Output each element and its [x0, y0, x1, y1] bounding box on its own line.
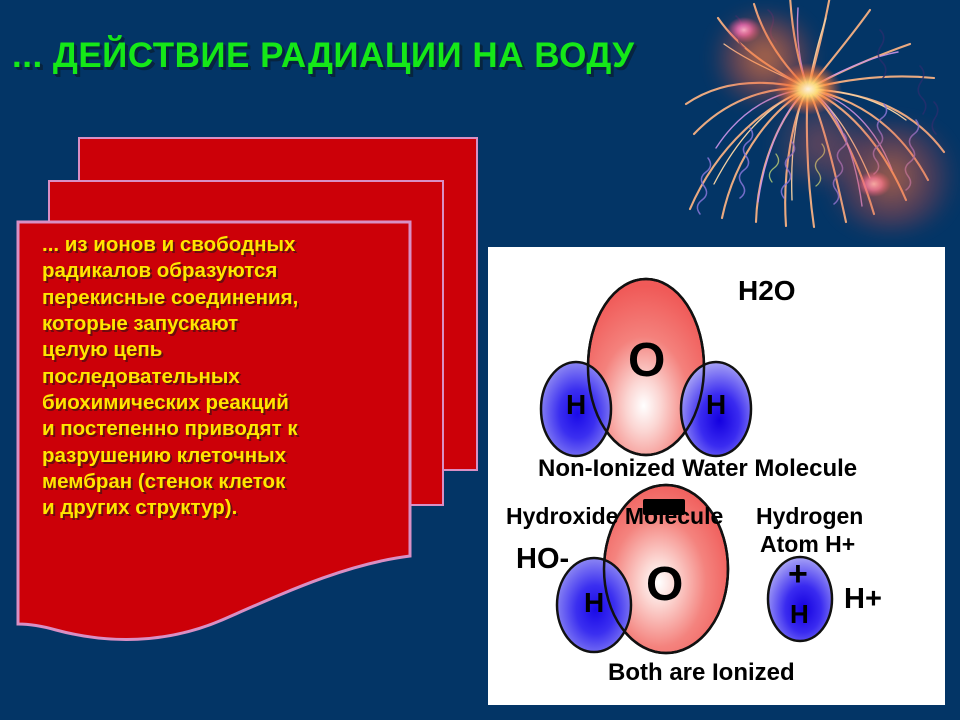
- hydroxide-hydrogen-symbol: H: [584, 587, 604, 619]
- diagram-footer-caption: Both are Ionized: [608, 659, 795, 687]
- slide-title: ... ДЕЙСТВИЕ РАДИАЦИИ НА ВОДУ: [12, 36, 635, 76]
- molecule-diagram-panel: O H H H2O Non-Ionized Water Molecule Hyd…: [488, 247, 945, 705]
- water-caption: Non-Ionized Water Molecule: [538, 455, 857, 483]
- hydroxide-heading: Hydroxide Molecule: [506, 503, 723, 530]
- hydroxide-formula-label: HO-: [516, 543, 569, 576]
- water-hydrogen-left-symbol: H: [566, 389, 586, 421]
- water-hydrogen-right-symbol: H: [706, 389, 726, 421]
- hydrogen-ion-short-label: H+: [844, 583, 882, 616]
- slide-canvas: ... ДЕЙСТВИЕ РАДИАЦИИ НА ВОДУ ... из ион…: [0, 0, 960, 720]
- hydrogen-atom-label-line2: Atom H+: [760, 531, 855, 558]
- hydroxide-oxygen-symbol: O: [646, 557, 683, 612]
- hydrogen-atom-label-line1: Hydrogen: [756, 503, 863, 530]
- hydrogen-ion-atom-symbol: H: [790, 599, 809, 630]
- firework-burst-icon: [648, 0, 960, 229]
- body-paragraph: ... из ионов и свободных радикалов образ…: [42, 232, 402, 522]
- water-oxygen-symbol: O: [628, 333, 665, 388]
- water-formula-label: H2O: [738, 275, 796, 307]
- hydrogen-ion-charge-symbol: +: [788, 555, 808, 594]
